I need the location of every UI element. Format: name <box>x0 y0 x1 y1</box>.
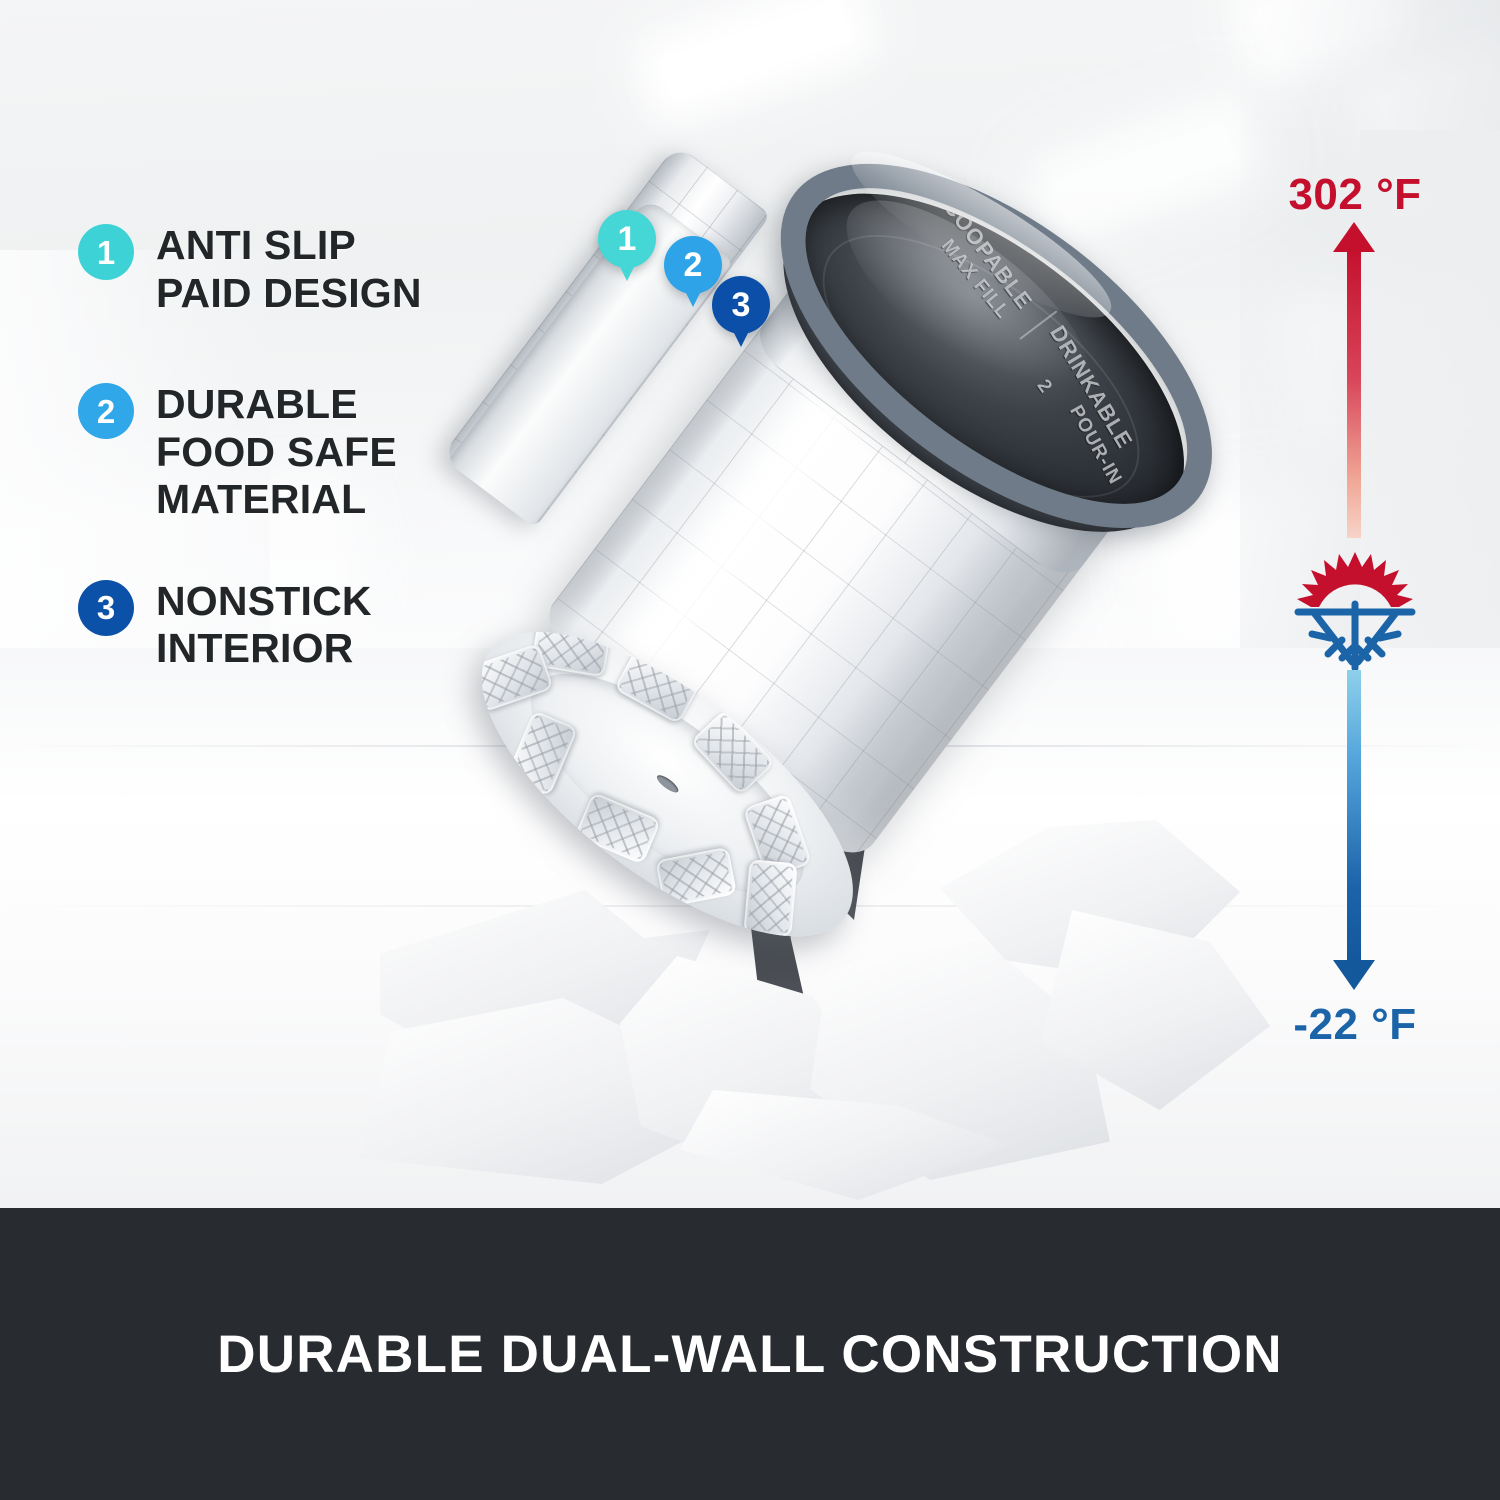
product-infographic: 1FREEZE FILL SCOOPABLE MAX F <box>0 0 1500 1500</box>
product-tumbler: 1FREEZE FILL SCOOPABLE MAX F <box>430 170 1250 1000</box>
callout-pin-2-number: 2 <box>684 248 703 282</box>
feature-badge-3: 3 <box>78 580 134 636</box>
feature-badge-2-number: 2 <box>97 395 115 428</box>
min-temperature-label: -22 °F <box>1255 1000 1455 1050</box>
feature-list: 1 ANTI SLIP PAID DESIGN 2 DURABLE FOOD S… <box>78 222 548 673</box>
hot-arrow-up-icon <box>1347 248 1361 538</box>
callout-pin-2[interactable]: 2 <box>664 236 722 294</box>
bottom-banner: DURABLE DUAL-WALL CONSTRUCTION <box>0 1208 1500 1500</box>
antislip-tread <box>743 859 797 937</box>
max-temperature-label: 302 °F <box>1255 170 1455 220</box>
feature-label-3: NONSTICK INTERIOR <box>156 578 372 673</box>
feature-item-3: 3 NONSTICK INTERIOR <box>78 578 548 673</box>
feature-badge-3-number: 3 <box>97 591 115 624</box>
sun-snowflake-icon <box>1290 542 1420 670</box>
feature-badge-1: 1 <box>78 224 134 280</box>
feature-label-1: ANTI SLIP PAID DESIGN <box>156 222 422 317</box>
callout-pin-1[interactable]: 1 <box>598 210 656 268</box>
callout-pin-3[interactable]: 3 <box>712 276 770 334</box>
feature-item-1: 1 ANTI SLIP PAID DESIGN <box>78 222 548 317</box>
callout-pin-1-number: 1 <box>618 222 637 256</box>
feature-item-2: 2 DURABLE FOOD SAFE MATERIAL <box>78 381 548 524</box>
feature-badge-2: 2 <box>78 383 134 439</box>
callout-pin-3-number: 3 <box>732 288 751 322</box>
feature-badge-1-number: 1 <box>97 236 115 269</box>
cold-arrow-down-icon <box>1347 670 1361 960</box>
temperature-range-gauge: 302 °F -22 °F <box>1255 170 1455 1050</box>
feature-label-2: DURABLE FOOD SAFE MATERIAL <box>156 381 397 524</box>
banner-headline: DURABLE DUAL-WALL CONSTRUCTION <box>217 1324 1283 1385</box>
